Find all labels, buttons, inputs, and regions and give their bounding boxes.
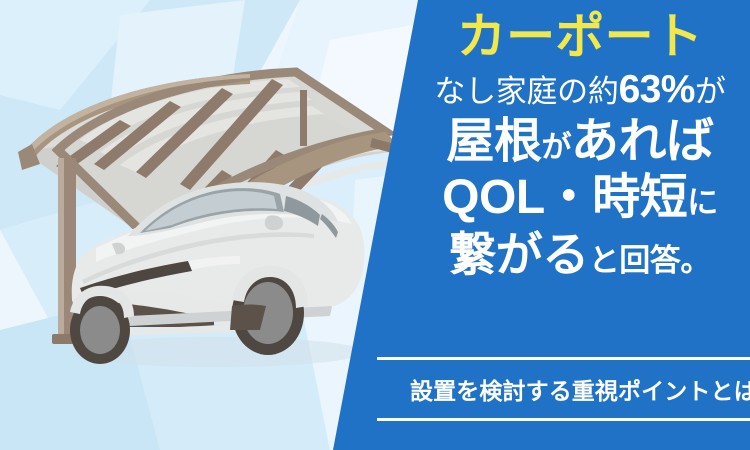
banner: カーポート なし家庭の約63%が 屋根があれば QOL・時短に 繋がると回答。 … [0, 0, 750, 450]
qol-particle: に [687, 185, 718, 220]
qol-word: QOL・時短 [442, 171, 687, 224]
roof-particle: が [541, 131, 571, 164]
tagline: 設置を検討する重視ポイントとは？ [410, 372, 750, 406]
headline-block: カーポート なし家庭の約63%が 屋根があれば QOL・時短に 繋がると回答。 … [410, 0, 750, 450]
stat-percent: 63% [619, 68, 695, 111]
headline-highlight: カーポート [457, 13, 703, 62]
headline-stat-line: なし家庭の約63%が [434, 70, 725, 109]
divider-top [377, 357, 750, 360]
roof-word: 屋根 [446, 115, 541, 168]
roof-verb: あれば [571, 115, 714, 168]
result-word: 繋がる [449, 228, 589, 281]
carport-with-car-illustration [0, 0, 430, 450]
stat-prefix: なし家庭の約 [434, 74, 618, 109]
headline-line-qol: QOL・時短に [442, 174, 718, 222]
headline-line-roof: 屋根があれば [446, 118, 713, 166]
stat-suffix: が [695, 74, 726, 109]
result-suffix: と回答。 [589, 243, 711, 278]
headline-line-result: 繋がると回答。 [449, 231, 711, 278]
divider-bottom [377, 418, 750, 421]
